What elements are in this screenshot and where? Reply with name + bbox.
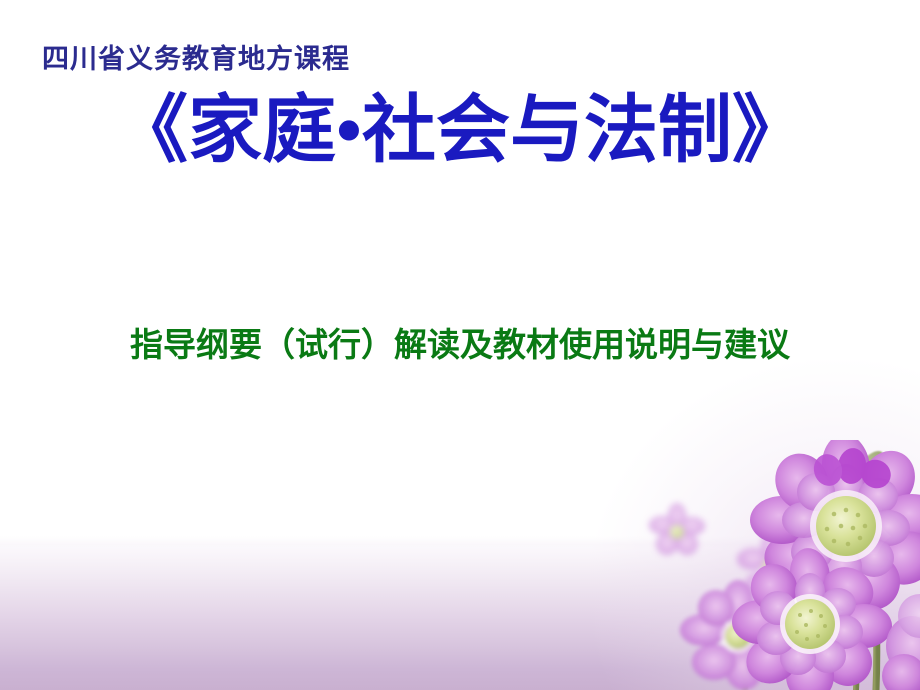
flower-decoration [620,440,920,690]
page-title: 《家庭•社会与法制》 [60,84,860,179]
presentation-slide: 四川省义务教育地方课程 《家庭•社会与法制》 指导纲要（试行）解读及教材使用说明… [0,0,920,690]
course-series-label: 四川省义务教育地方课程 [42,44,350,75]
page-subtitle: 指导纲要（试行）解读及教材使用说明与建议 [60,327,860,367]
flower-illustration [620,440,920,690]
flower-blossom-edge [882,594,920,690]
flower-blossom-small-far [649,503,705,555]
